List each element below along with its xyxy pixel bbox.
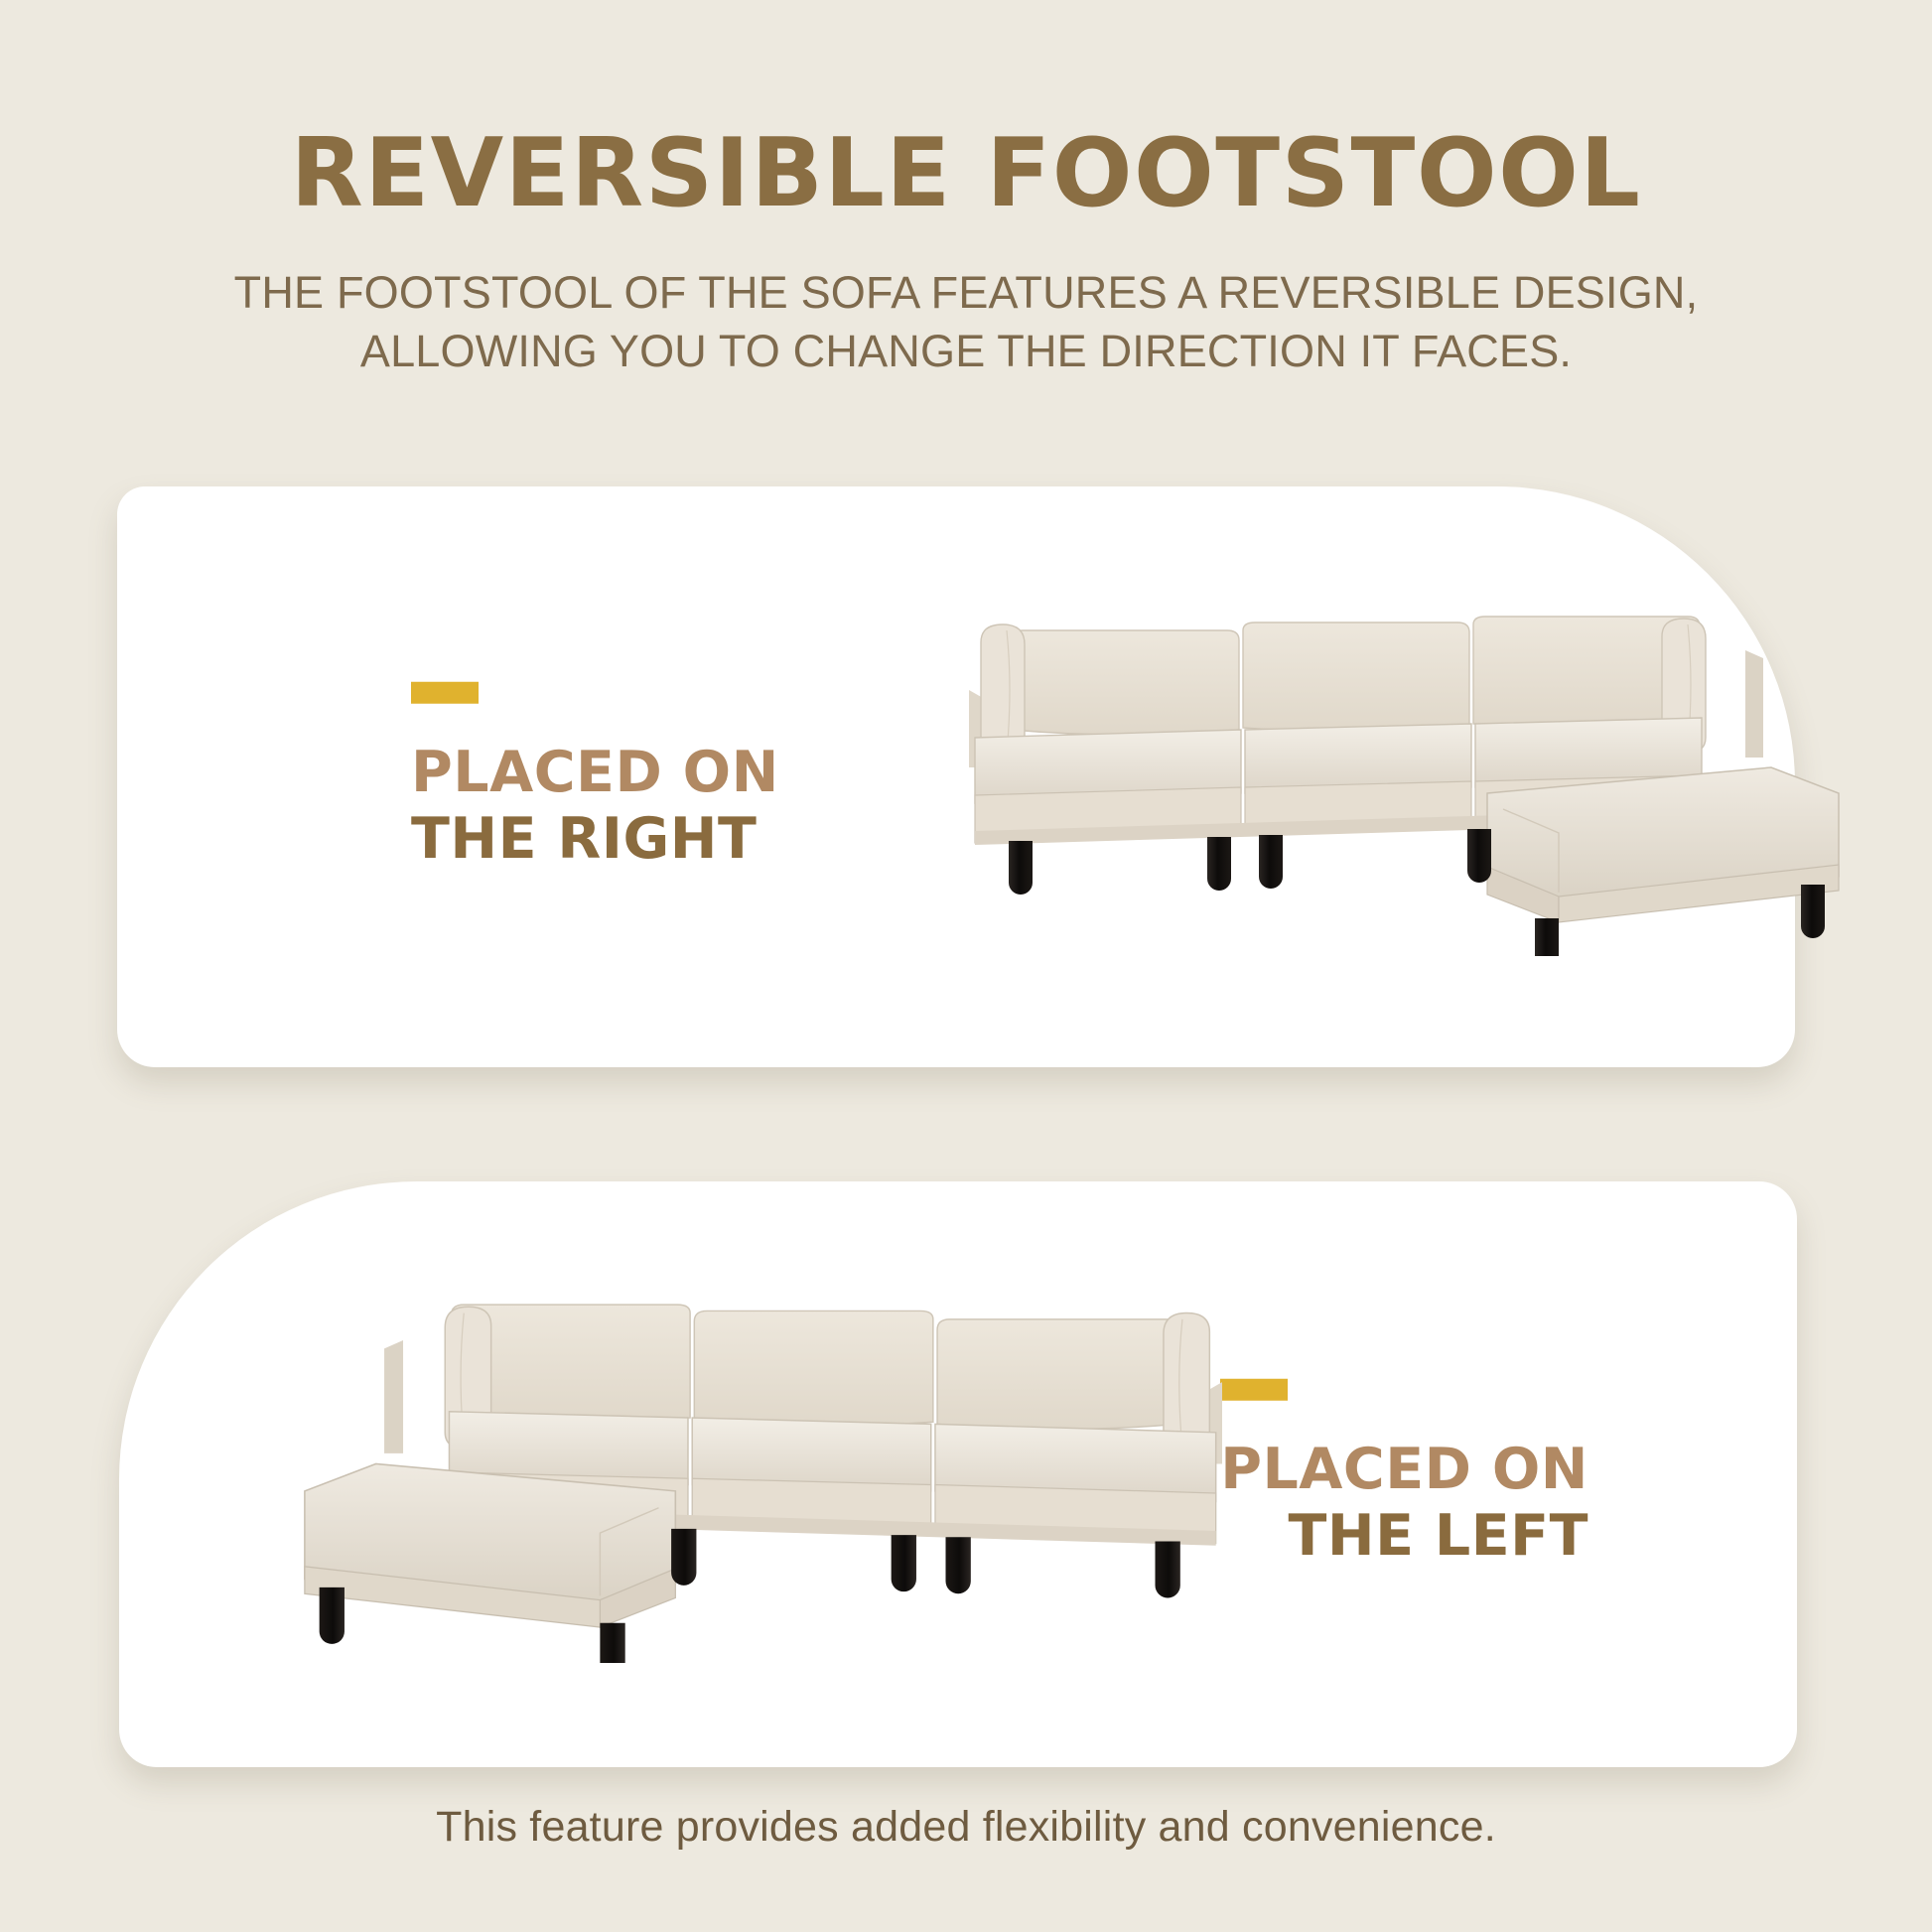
card1-label-line-2: THE RIGHT: [411, 806, 779, 873]
card2-label-line-2: THE LEFT: [1220, 1503, 1588, 1570]
card-placed-on-left[interactable]: PLACED ON THE LEFT: [119, 1181, 1797, 1767]
card1-label-line-1: PLACED ON: [411, 739, 779, 805]
page-title: REVERSIBLE FOOTSTOOL: [0, 0, 1932, 221]
accent-dash-icon: [411, 681, 479, 703]
label-block-right: PLACED ON THE RIGHT: [411, 681, 779, 873]
footer-note: This feature provides added flexibility …: [0, 1803, 1932, 1852]
label-block-left: PLACED ON THE LEFT: [1220, 1379, 1588, 1571]
header: REVERSIBLE FOOTSTOOL THE FOOTSTOOL OF TH…: [0, 0, 1932, 381]
page-subtitle: THE FOOTSTOOL OF THE SOFA FEATURES A REV…: [192, 221, 1740, 381]
sofa-image-footstool-left: [288, 1286, 1241, 1663]
card-placed-on-right[interactable]: PLACED ON THE RIGHT: [117, 486, 1795, 1067]
subtitle-line-1: THE FOOTSTOOL OF THE SOFA FEATURES A REV…: [234, 267, 1699, 318]
subtitle-line-2: ALLOWING YOU TO CHANGE THE DIRECTION IT …: [192, 322, 1740, 380]
sofa-image-footstool-right: [951, 599, 1855, 956]
card2-label-line-1: PLACED ON: [1220, 1437, 1588, 1503]
